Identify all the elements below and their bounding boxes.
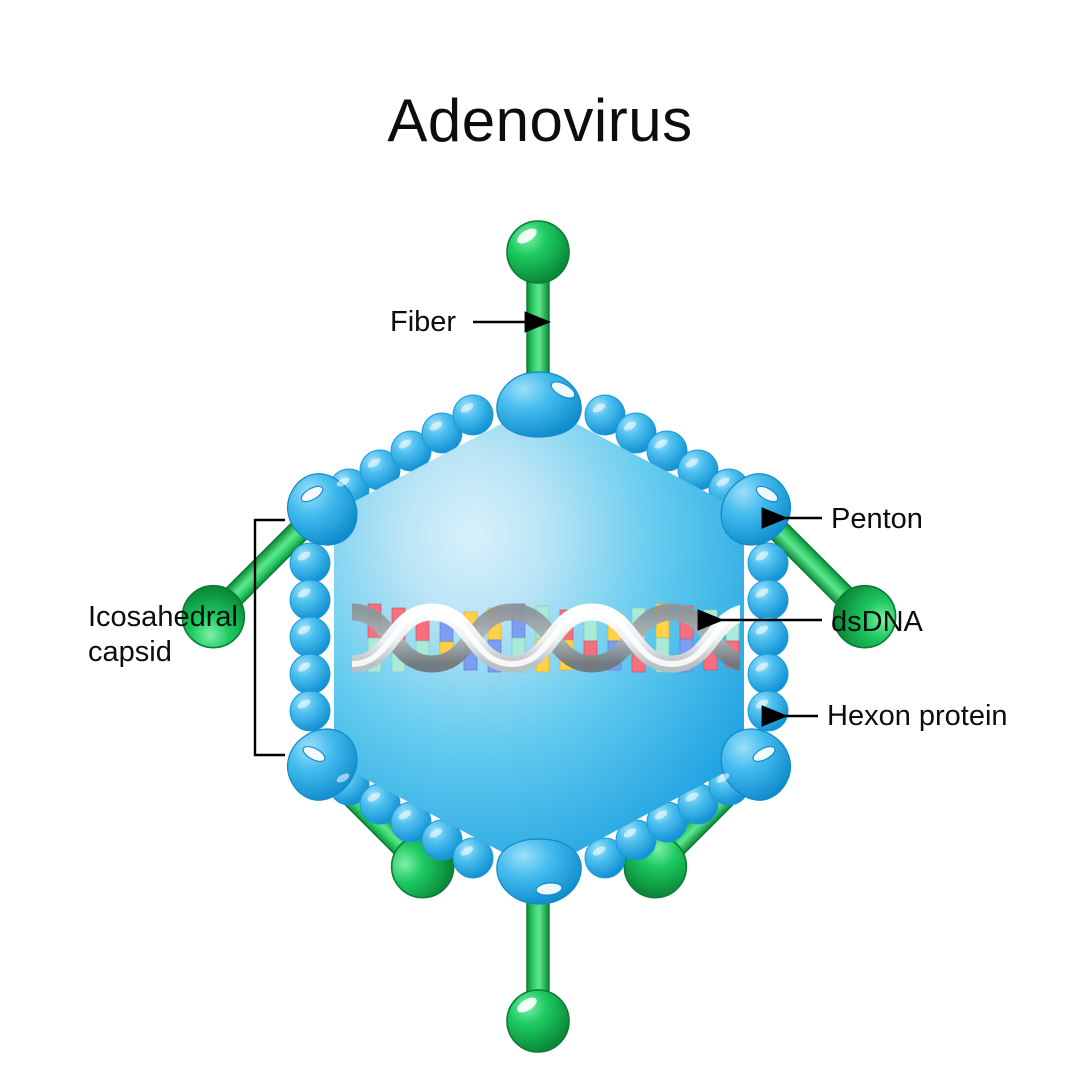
- label-penton: Penton: [831, 502, 923, 537]
- label-fiber: Fiber: [390, 305, 456, 340]
- label-icosahedral-capsid: Icosahedral capsid: [88, 600, 263, 671]
- virus-illustration: [0, 0, 1080, 1080]
- fiber-bottom: [507, 880, 569, 1052]
- penton-bottom: [497, 839, 581, 904]
- label-dsdna: dsDNA: [831, 605, 923, 640]
- adenovirus-diagram: Adenovirus: [0, 0, 1080, 1080]
- penton-top: [497, 372, 581, 437]
- label-hexon: Hexon protein: [827, 699, 1008, 734]
